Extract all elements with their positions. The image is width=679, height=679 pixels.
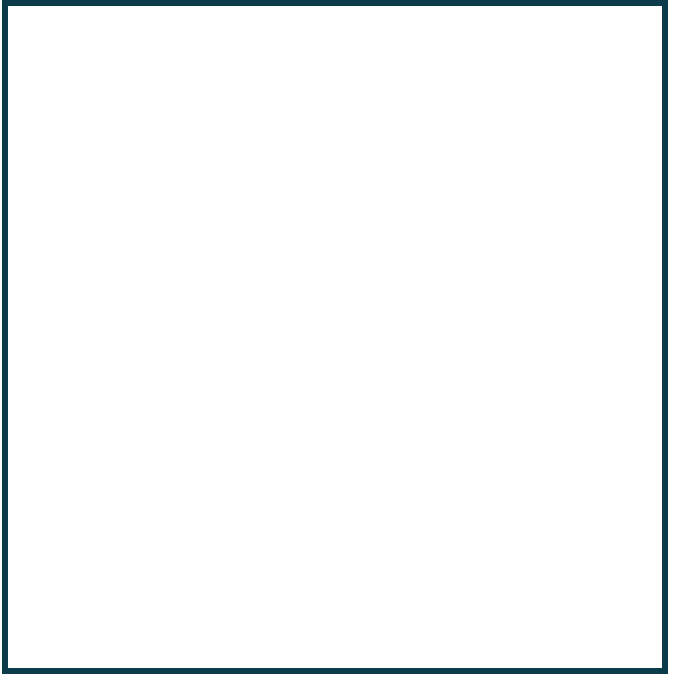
leader-dot <box>362 216 365 219</box>
serum-bubble-icon <box>500 178 515 195</box>
page-title: Renewing Ingredients <box>8 26 662 151</box>
leader-dot <box>335 464 338 467</box>
leader-dot <box>346 588 349 591</box>
leader-dot <box>330 216 333 219</box>
page-title-line-1: Renewing <box>8 26 662 89</box>
leader-dot <box>373 588 376 591</box>
leader-dot <box>346 464 349 467</box>
serum-bubble-icon <box>478 182 486 191</box>
serum-bubble-icon <box>467 231 474 239</box>
leader-dot <box>373 464 376 467</box>
leader-dot <box>330 340 333 343</box>
leader-dot <box>368 216 371 219</box>
leader-dot <box>341 464 344 467</box>
serum-bubble-icon <box>480 220 489 230</box>
leader-dot <box>346 340 349 343</box>
leader-dot <box>373 340 376 343</box>
green-tea-leaf-art <box>388 246 500 378</box>
ingredient-label-allantoin: Allantoin <box>18 575 318 603</box>
leader-dot <box>379 216 382 219</box>
leader-dot <box>384 464 387 467</box>
ingredient-row-vitamins: Vitamin C, E, and B5 <box>18 200 418 234</box>
card-inner-surface: Renewing Ingredients Vitamin C, E, and B… <box>8 6 662 668</box>
leader-dot <box>346 216 349 219</box>
ingredient-row-calendula: Calendula Extract <box>18 448 418 482</box>
leader-dot <box>357 464 360 467</box>
leader-dot <box>341 588 344 591</box>
leader-dot <box>352 588 355 591</box>
leader-dot <box>384 340 387 343</box>
leader-dot <box>357 216 360 219</box>
leader-dot <box>341 340 344 343</box>
ingredient-label-vitamins: Vitamin C, E, and B5 <box>18 203 318 231</box>
ingredient-label-green-tea: Green Tea Extract <box>18 327 318 355</box>
leader-dot <box>330 588 333 591</box>
leader-dot <box>373 216 376 219</box>
ingredient-label-calendula: Calendula Extract <box>18 451 318 479</box>
leader-dot <box>357 340 360 343</box>
calendula-flower-art <box>408 364 608 524</box>
leader-dot <box>352 340 355 343</box>
leader-dot <box>368 588 371 591</box>
leader-dot <box>368 340 371 343</box>
leader-dot <box>362 464 365 467</box>
leader-dot <box>362 340 365 343</box>
leader-dot <box>384 588 387 591</box>
leader-dot <box>352 216 355 219</box>
leader-dot <box>341 216 344 219</box>
serum-bubble-icon <box>489 198 496 205</box>
ingredients-infographic: Renewing Ingredients Vitamin C, E, and B… <box>0 0 679 679</box>
leader-dot <box>384 216 387 219</box>
leader-dot <box>379 464 382 467</box>
ingredient-row-allantoin: Allantoin <box>18 572 418 606</box>
leader-dot <box>335 340 338 343</box>
ingredient-art-column <box>388 136 662 668</box>
leader-dot <box>362 588 365 591</box>
leader-dot <box>379 588 382 591</box>
leader-dot <box>368 464 371 467</box>
serum-bubble-icon <box>474 206 480 212</box>
ingredient-row-green-tea: Green Tea Extract <box>18 324 418 358</box>
leader-dot <box>335 216 338 219</box>
leader-dot <box>352 464 355 467</box>
leader-dot <box>330 464 333 467</box>
serum-bubble-icon <box>512 208 518 214</box>
leader-dot <box>379 340 382 343</box>
leader-dot <box>357 588 360 591</box>
serum-drop-art <box>458 150 594 258</box>
leader-dot <box>335 588 338 591</box>
